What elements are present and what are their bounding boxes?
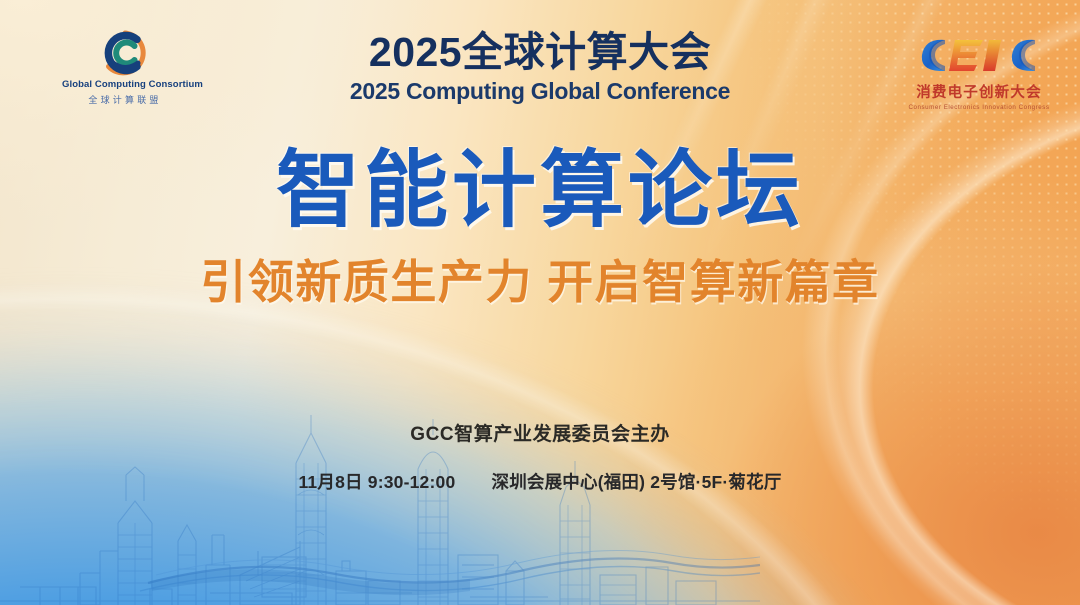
organizer-line: GCC智算产业发展委员会主办 — [0, 425, 1080, 444]
datetime-venue-line: 11月8日 9:30-12:00 深圳会展中心(福田) 2号馆·5F·菊花厅 — [0, 474, 1080, 492]
forum-subheadline: 引领新质生产力 开启智算新篇章 — [0, 259, 1080, 305]
ceic-wordmark — [911, 30, 1047, 80]
ceic-logo: 消费电子创新大会 Consumer Electronics Innovation… — [904, 30, 1054, 111]
ceic-logo-chinese-name: 消费电子创新大会 — [904, 81, 1054, 102]
event-venue: 深圳会展中心(福田) 2号馆·5F·菊花厅 — [492, 472, 782, 492]
conference-poster: Global Computing Consortium 全球计算联盟 2025全… — [0, 0, 1080, 605]
event-datetime: 11月8日 9:30-12:00 — [298, 472, 455, 492]
ceic-logo-english-name: Consumer Electronics Innovation Congress — [904, 104, 1054, 111]
forum-headline: 智能计算论坛 — [0, 148, 1080, 232]
